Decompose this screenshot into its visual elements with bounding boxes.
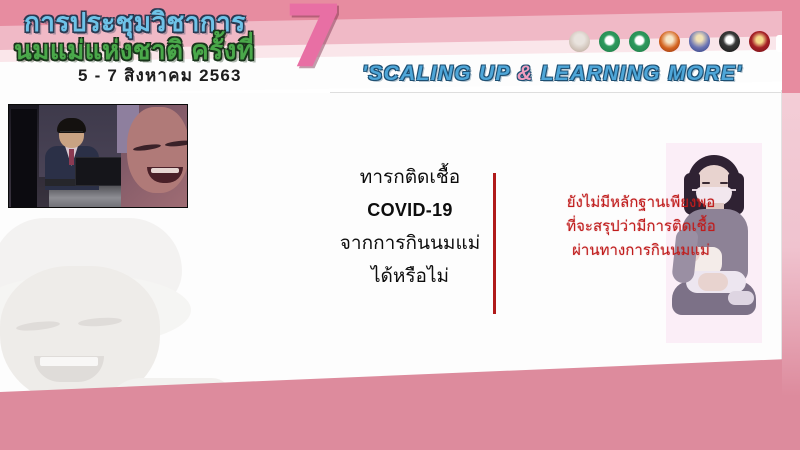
question-line-2: COVID-19	[330, 194, 490, 227]
conference-edition-number: 7	[284, 0, 344, 80]
question-text-block: ทารกติดเชื้อ COVID-19 จากการกินนมแม่ ได้…	[330, 161, 490, 293]
sponsor-logo-strip: สสส	[566, 18, 800, 52]
answer-line-2: ที่จะสรุปว่ามีการติดเชื้อ	[506, 215, 776, 239]
conference-date-range: 5 - 7 สิงหาคม 2563	[78, 62, 242, 89]
question-line-3: จากการกินนมแม่	[330, 227, 490, 260]
red-vertical-divider	[493, 173, 496, 314]
right-edge-pink-strip-top	[782, 0, 800, 93]
question-line-1: ทารกติดเชื้อ	[330, 161, 490, 194]
tagline-ampersand: &	[517, 62, 533, 85]
green-medical-logo-1	[596, 22, 622, 52]
question-line-4: ได้หรือไม่	[330, 260, 490, 293]
red-garuda-logo	[746, 22, 772, 52]
conference-header-banner: การประชุมวิชาการ นมแม่แห่งชาติ ครั้งที่ …	[0, 0, 800, 93]
orange-emblem-logo	[656, 22, 682, 52]
slide-content-area: ทารกติดเชื้อ COVID-19 จากการกินนมแม่ ได้…	[0, 93, 782, 403]
green-medical-logo-2	[626, 22, 652, 52]
conference-tagline: 'SCALING UP & LEARNING MORE'	[362, 62, 742, 86]
tagline-part1: 'SCALING UP	[362, 62, 517, 85]
tagline-part2: LEARNING MORE'	[534, 62, 743, 85]
answer-text-block: ยังไม่มีหลักฐานเพียงพอ ที่จะสรุปว่ามีการ…	[506, 191, 776, 263]
royal-crest-logo	[686, 22, 712, 52]
answer-line-3: ผ่านทางการกินนมแม่	[506, 239, 776, 263]
footer-pink-band	[0, 404, 800, 450]
answer-line-1: ยังไม่มีหลักฐานเพียงพอ	[506, 191, 776, 215]
royal-seal-logo	[566, 22, 592, 52]
slide-screenshot: การประชุมวิชาการ นมแม่แห่งชาติ ครั้งที่ …	[0, 0, 800, 450]
speaker-video-thumbnail[interactable]	[8, 104, 188, 208]
baby-watermark-photo	[0, 218, 232, 403]
black-circle-logo	[716, 22, 742, 52]
